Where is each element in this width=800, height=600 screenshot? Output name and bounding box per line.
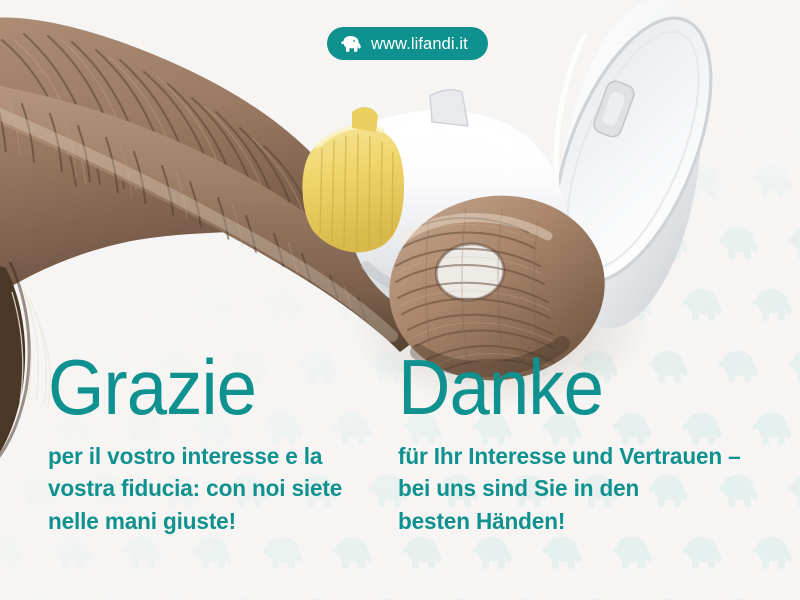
badge-url-text: www.lifandi.it: [371, 36, 468, 53]
watermark-elephant-icon: [0, 288, 24, 322]
watermark-elephant-icon: [366, 226, 410, 260]
megaphone-strap-lug: [592, 79, 637, 139]
elephant-icon: [340, 35, 362, 53]
headline-german: Danke: [398, 352, 725, 424]
megaphone-horn: [523, 0, 743, 328]
body-italian-line-1: per il vostro interesse e la: [48, 440, 338, 472]
watermark-elephant-icon: [750, 288, 794, 322]
watermark-elephant-icon: [120, 288, 164, 322]
watermark-elephant-icon: [50, 164, 94, 198]
watermark-elephant-icon: [786, 102, 800, 136]
watermark-elephant-icon: [540, 40, 584, 74]
watermark-elephant-icon: [436, 102, 480, 136]
column-italian: Grazie per il vostro interesse e la vost…: [0, 352, 350, 582]
watermark-row: [16, 226, 800, 260]
watermark-elephant-icon: [470, 288, 514, 322]
watermark-elephant-icon: [470, 164, 514, 198]
megaphone-button: [398, 248, 432, 284]
watermark-elephant-icon: [330, 288, 374, 322]
body-italian-line-3: nelle mani giuste!: [48, 505, 338, 537]
watermark-elephant-icon: [260, 288, 304, 322]
watermark-elephant-icon: [610, 288, 654, 322]
watermark-elephant-icon: [716, 102, 760, 136]
megaphone-body: [346, 90, 565, 324]
watermark-elephant-icon: [680, 164, 724, 198]
watermark-elephant-icon: [610, 164, 654, 198]
watermark-elephant-icon: [646, 226, 690, 260]
message-columns: Grazie per il vostro interesse e la vost…: [0, 352, 800, 582]
watermark-elephant-icon: [156, 226, 200, 260]
watermark-elephant-icon: [436, 226, 480, 260]
watermark-elephant-icon: [506, 102, 550, 136]
watermark-elephant-icon: [400, 164, 444, 198]
watermark-elephant-icon: [190, 164, 234, 198]
watermark-elephant-icon: [16, 102, 60, 136]
collar-ridges: [320, 134, 393, 250]
watermark-elephant-icon: [260, 40, 304, 74]
watermark-elephant-icon: [226, 226, 270, 260]
headline-italian: Grazie: [48, 352, 329, 424]
watermark-elephant-icon: [646, 102, 690, 136]
watermark-elephant-icon: [190, 40, 234, 74]
poster-canvas: www.lifandi.it Grazie per il vostro inte…: [0, 0, 800, 600]
watermark-elephant-icon: [16, 226, 60, 260]
collar-tab: [352, 107, 378, 132]
watermark-elephant-icon: [750, 164, 794, 198]
body-german-line-2: bei uns sind Sie in den: [398, 472, 736, 504]
body-italian: per il vostro interesse e la vostra fidu…: [48, 440, 338, 537]
watermark-row: [0, 164, 800, 198]
watermark-elephant-icon: [296, 102, 340, 136]
watermark-elephant-icon: [680, 40, 724, 74]
watermark-elephant-icon: [750, 40, 794, 74]
watermark-elephant-icon: [366, 102, 410, 136]
watermark-elephant-icon: [50, 288, 94, 322]
watermark-elephant-icon: [506, 226, 550, 260]
megaphone-yellow-collar: [302, 107, 404, 252]
column-german: Danke für Ihr Interesse und Vertrauen – …: [350, 352, 750, 582]
megaphone-horn-opening: [523, 0, 743, 303]
megaphone-handle: [398, 248, 460, 352]
watermark-elephant-icon: [86, 102, 130, 136]
elephant-trunk: [0, 84, 440, 382]
body-german: für Ihr Interesse und Vertrauen – bei un…: [398, 440, 736, 537]
watermark-elephant-icon: [330, 164, 374, 198]
megaphone-top-fin: [430, 90, 468, 126]
watermark-elephant-icon: [576, 102, 620, 136]
watermark-elephant-icon: [540, 288, 584, 322]
watermark-elephant-icon: [576, 226, 620, 260]
watermark-elephant-icon: [50, 40, 94, 74]
watermark-elephant-icon: [400, 288, 444, 322]
website-url-badge[interactable]: www.lifandi.it: [327, 27, 488, 60]
watermark-elephant-icon: [120, 164, 164, 198]
watermark-elephant-icon: [296, 226, 340, 260]
watermark-elephant-icon: [120, 40, 164, 74]
watermark-row: [16, 102, 800, 136]
watermark-elephant-icon: [716, 226, 760, 260]
watermark-elephant-icon: [190, 288, 234, 322]
watermark-row: [0, 288, 800, 322]
body-italian-line-2: vostra fiducia: con noi siete: [48, 472, 338, 504]
watermark-elephant-icon: [260, 164, 304, 198]
watermark-elephant-icon: [0, 164, 24, 198]
watermark-elephant-icon: [156, 102, 200, 136]
watermark-elephant-icon: [86, 226, 130, 260]
watermark-elephant-icon: [786, 226, 800, 260]
body-german-line-1: für Ihr Interesse und Vertrauen –: [398, 440, 736, 472]
watermark-elephant-icon: [540, 164, 584, 198]
watermark-elephant-icon: [610, 40, 654, 74]
watermark-elephant-icon: [0, 40, 24, 74]
watermark-elephant-icon: [680, 288, 724, 322]
body-german-line-3: besten Händen!: [398, 505, 736, 537]
watermark-elephant-icon: [226, 102, 270, 136]
